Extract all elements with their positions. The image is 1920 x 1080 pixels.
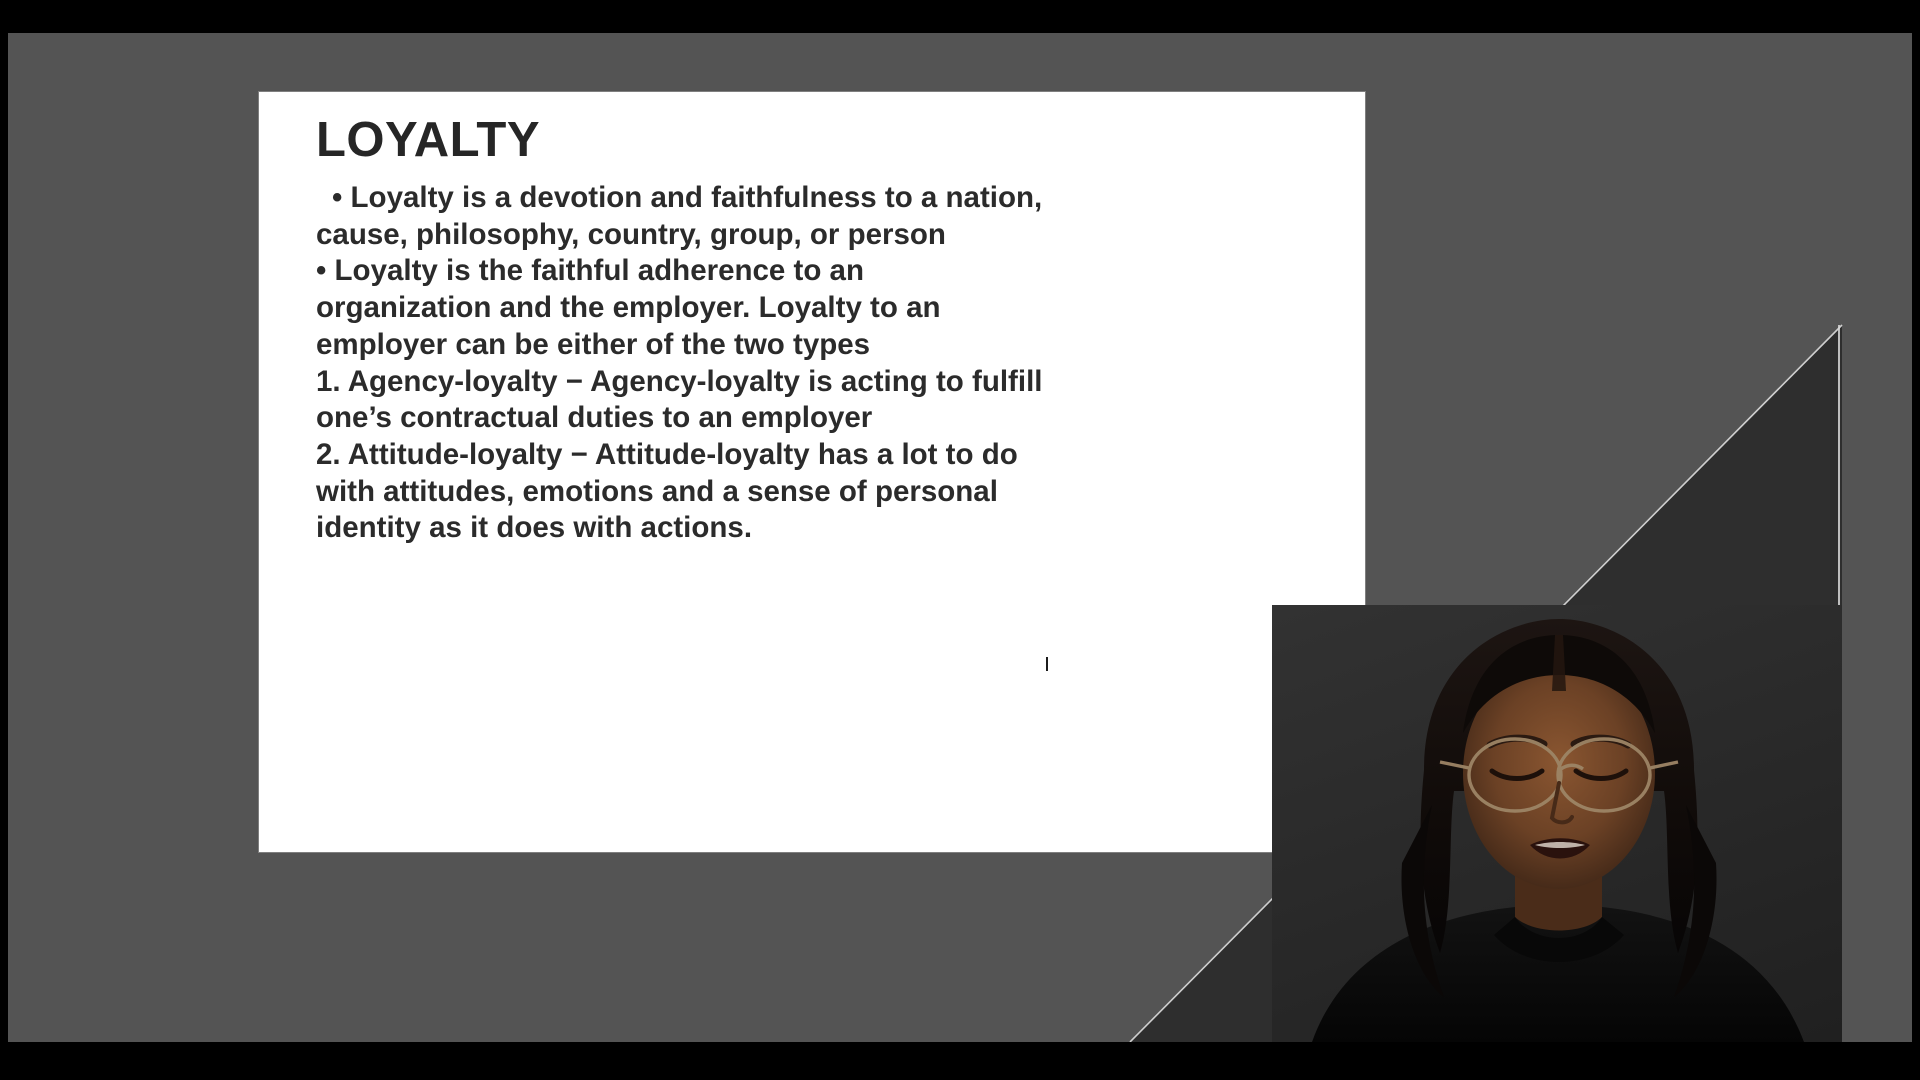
presentation-stage: LOYALTY • Loyalty is a devotion and fait… <box>8 33 1912 1042</box>
slide-title: LOYALTY <box>316 115 540 166</box>
screen-root: LOYALTY • Loyalty is a devotion and fait… <box>0 0 1920 1080</box>
slide-body-text: • Loyalty is a devotion and faithfulness… <box>316 180 1046 547</box>
slide-paragraph-1: • Loyalty is a devotion and faithfulness… <box>316 180 1046 253</box>
slide-paragraph-3: 1. Agency-loyalty − Agency-loyalty is ac… <box>316 364 1046 437</box>
presenter-avatar <box>1272 605 1842 1042</box>
slide-paragraph-4: 2. Attitude-loyalty − Attitude-loyalty h… <box>316 437 1046 547</box>
slide-paragraph-2: • Loyalty is the faithful adherence to a… <box>316 253 1046 363</box>
presenter-webcam[interactable] <box>1272 605 1842 1042</box>
